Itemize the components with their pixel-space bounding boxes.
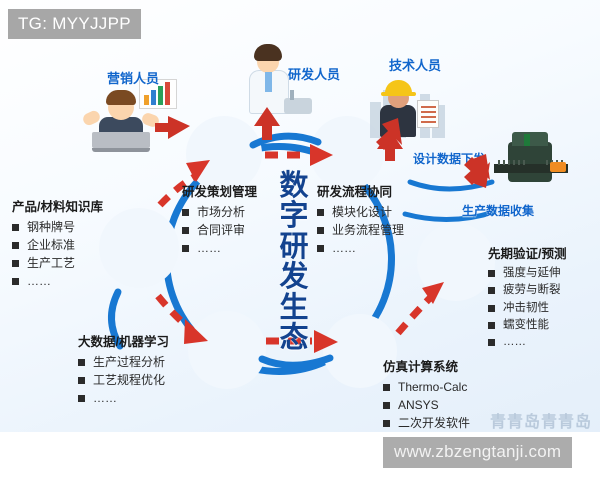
watermark-url: www.zbzengtanji.com <box>383 437 572 468</box>
block-verification: 先期验证/预测 强度与延伸 疲劳与断裂 冲击韧性 蠕变性能 …… <box>488 243 566 351</box>
list-item-label: 二次开发软件 <box>398 414 470 432</box>
list-item: 蠕变性能 <box>488 317 566 334</box>
center-title-char: 字 <box>274 201 314 231</box>
block-item-list: Thermo-Calc ANSYS 二次开发软件 <box>383 378 470 432</box>
block-rd-process: 研发流程协同 模块化设计 业务流程管理 …… <box>317 181 404 257</box>
list-item-label: …… <box>332 239 356 257</box>
tie <box>265 72 272 92</box>
block-rd-planning: 研发策划管理 市场分析 合同评审 …… <box>182 181 257 257</box>
list-item-label: 市场分析 <box>197 203 245 221</box>
list-item-label: …… <box>197 239 221 257</box>
list-item-label: …… <box>27 272 51 290</box>
square-bullet-icon <box>12 278 19 285</box>
list-item: …… <box>488 334 566 351</box>
list-item-label: 强度与延伸 <box>503 265 561 282</box>
list-item: 生产工艺 <box>12 254 103 272</box>
node-knowledge-base[interactable] <box>107 216 171 280</box>
list-item: 合同评审 <box>182 221 257 239</box>
hair <box>254 44 282 61</box>
center-title-char: 生 <box>274 293 314 323</box>
tg-tag: TG: MYYJJPP <box>8 9 141 39</box>
list-item-label: 合同评审 <box>197 221 245 239</box>
org-chart-icon <box>331 137 363 169</box>
square-bullet-icon <box>383 402 390 409</box>
square-bullet-icon <box>12 260 19 267</box>
list-item: 疲劳与断裂 <box>488 282 566 299</box>
list-item: ANSYS <box>383 396 470 414</box>
list-item-label: 生产工艺 <box>27 254 75 272</box>
document-pencil-icon <box>207 137 241 171</box>
role-label-rd: 研发人员 <box>288 64 340 83</box>
block-item-list: 强度与延伸 疲劳与断裂 冲击韧性 蠕变性能 …… <box>488 265 566 351</box>
square-bullet-icon <box>78 377 85 384</box>
block-item-list: 市场分析 合同评审 …… <box>182 203 257 257</box>
list-item: 模块化设计 <box>317 203 404 221</box>
block-title: 仿真计算系统 <box>383 356 470 375</box>
square-bullet-icon <box>488 339 495 346</box>
block-item-list: 生产过程分析 工艺规程优化 …… <box>78 353 169 407</box>
block-title: 大数据/机器学习 <box>78 331 169 350</box>
square-bullet-icon <box>12 224 19 231</box>
inbox-document-icon <box>121 230 157 266</box>
code-window-icon <box>210 333 244 367</box>
square-bullet-icon <box>12 242 19 249</box>
center-title-char: 态 <box>274 323 314 353</box>
list-item-label: 业务流程管理 <box>332 221 404 239</box>
list-item: …… <box>317 239 404 257</box>
watermark-cn: 青青岛青青岛 <box>490 408 592 432</box>
node-verification[interactable] <box>425 231 487 293</box>
list-item: 生产过程分析 <box>78 353 169 371</box>
list-item-label: 生产过程分析 <box>93 353 165 371</box>
square-bullet-icon <box>317 209 324 216</box>
center-title-char: 数 <box>274 171 314 201</box>
role-label-marketing: 营销人员 <box>107 68 159 87</box>
bar-chart-arrow-icon <box>439 245 473 279</box>
block-title: 产品/材料知识库 <box>12 196 103 215</box>
role-label-tech: 技术人员 <box>389 55 441 74</box>
list-item-label: 模块化设计 <box>332 203 392 221</box>
clipboard-icon <box>417 100 439 128</box>
square-bullet-icon <box>78 359 85 366</box>
block-title: 先期验证/预测 <box>488 243 566 262</box>
square-bullet-icon <box>182 227 189 234</box>
center-title-char: 研 <box>274 232 314 262</box>
square-bullet-icon <box>488 305 495 312</box>
list-item: 企业标准 <box>12 236 103 254</box>
machine-part-orange <box>550 162 566 172</box>
laptop-icon <box>92 132 150 148</box>
square-bullet-icon <box>317 227 324 234</box>
list-item-label: 冲击韧性 <box>503 300 549 317</box>
list-item: …… <box>182 239 257 257</box>
list-item-label: …… <box>93 389 117 407</box>
square-bullet-icon <box>317 245 324 252</box>
node-rd-planning[interactable] <box>194 124 254 184</box>
node-bigdata[interactable] <box>196 319 258 381</box>
infographic-canvas: TG: MYYJJPP <box>0 0 600 480</box>
list-item-label: 企业标准 <box>27 236 75 254</box>
list-item-label: ANSYS <box>398 396 439 414</box>
flow-label-design-dispatch: 设计数据下发 <box>413 150 485 167</box>
list-item: 冲击韧性 <box>488 300 566 317</box>
list-item-label: …… <box>503 334 526 351</box>
block-bigdata: 大数据/机器学习 生产过程分析 工艺规程优化 …… <box>78 331 169 407</box>
square-bullet-icon <box>78 395 85 402</box>
list-item: 二次开发软件 <box>383 414 470 432</box>
list-item: 强度与延伸 <box>488 265 566 282</box>
list-item: 工艺规程优化 <box>78 371 169 389</box>
block-title: 研发流程协同 <box>317 181 404 200</box>
square-bullet-icon <box>383 420 390 427</box>
list-item: 市场分析 <box>182 203 257 221</box>
machine-top <box>512 132 548 146</box>
hair <box>106 90 136 105</box>
torso <box>380 105 416 137</box>
square-bullet-icon <box>488 322 495 329</box>
list-item: Thermo-Calc <box>383 378 470 396</box>
list-item-label: 疲劳与断裂 <box>503 282 561 299</box>
node-simulation[interactable] <box>331 322 389 380</box>
block-item-list: 模块化设计 业务流程管理 …… <box>317 203 404 257</box>
monitor-line-chart-icon <box>344 335 376 367</box>
square-bullet-icon <box>383 384 390 391</box>
list-item-label: 蠕变性能 <box>503 317 549 334</box>
list-item: 钢种牌号 <box>12 218 103 236</box>
lab-equipment-icon <box>284 98 312 114</box>
list-item: …… <box>78 389 169 407</box>
list-item-label: 钢种牌号 <box>27 218 75 236</box>
list-item-label: Thermo-Calc <box>398 378 467 396</box>
square-bullet-icon <box>182 209 189 216</box>
machine-stack <box>524 134 530 146</box>
node-rd-process[interactable] <box>318 124 376 182</box>
flow-label-production-collect: 生产数据收集 <box>462 202 534 219</box>
square-bullet-icon <box>182 245 189 252</box>
block-knowledge-base: 产品/材料知识库 钢种牌号 企业标准 生产工艺 …… <box>12 196 103 290</box>
square-bullet-icon <box>488 270 495 277</box>
block-simulation: 仿真计算系统 Thermo-Calc ANSYS 二次开发软件 <box>383 356 470 432</box>
list-item: 业务流程管理 <box>317 221 404 239</box>
production-machine-art <box>494 132 568 194</box>
list-item: …… <box>12 272 103 290</box>
list-item-label: 工艺规程优化 <box>93 371 165 389</box>
square-bullet-icon <box>488 287 495 294</box>
arm-right <box>140 111 160 128</box>
center-title: 数 字 研 发 生 态 <box>274 171 314 354</box>
center-title-char: 发 <box>274 262 314 292</box>
block-item-list: 钢种牌号 企业标准 生产工艺 …… <box>12 218 103 290</box>
block-title: 研发策划管理 <box>182 181 257 200</box>
